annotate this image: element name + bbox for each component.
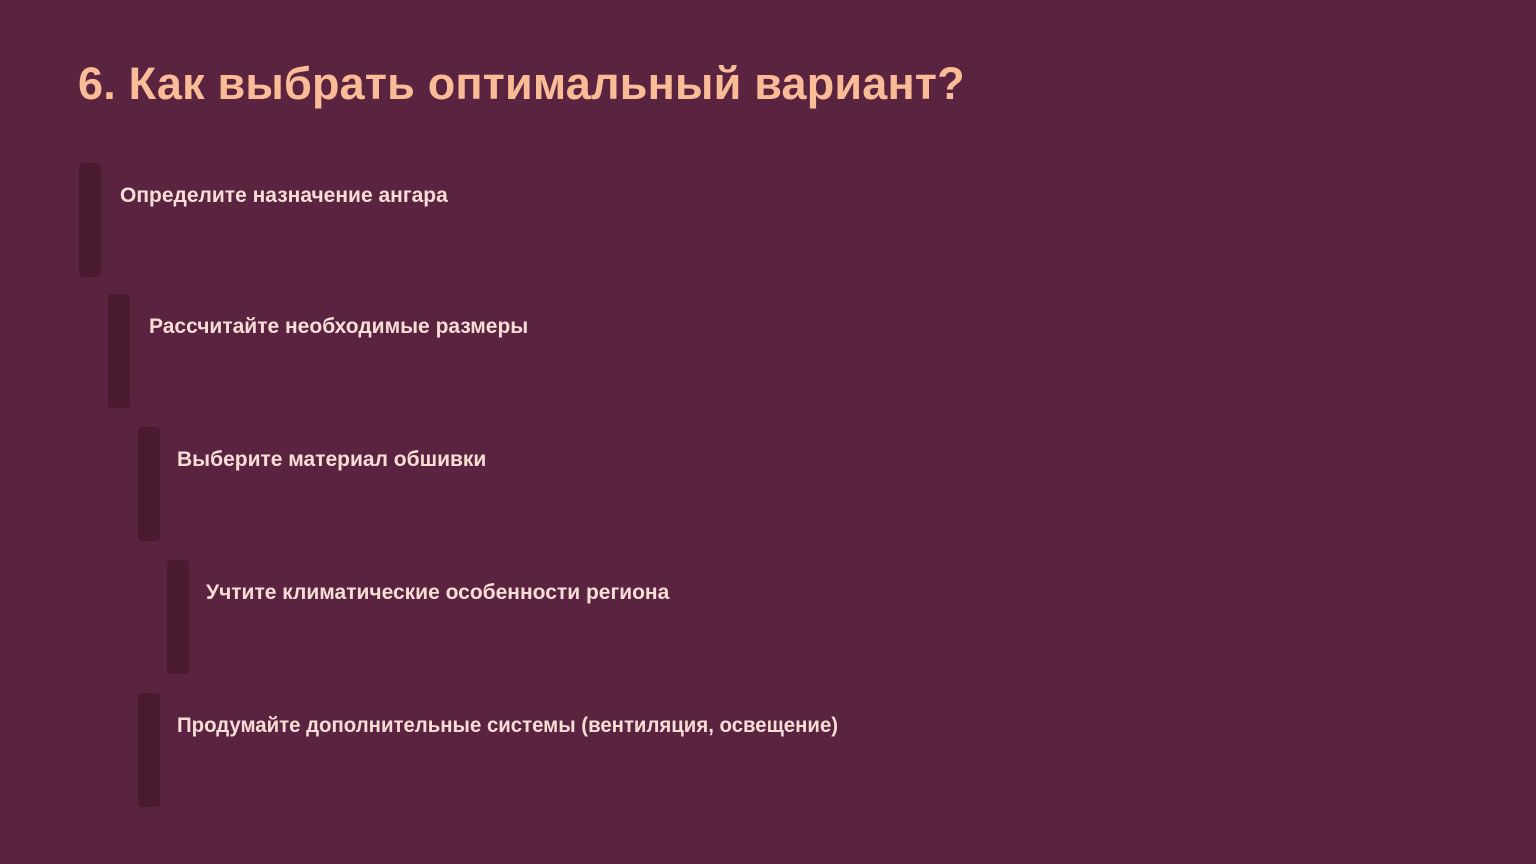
accent-bar-icon [79,163,101,277]
slide-canvas: 6. Как выбрать оптимальный вариант? Опре… [0,0,1536,864]
step-label: Рассчитайте необходимые размеры [149,314,528,340]
steps-list: Определите назначение ангара Рассчитайте… [0,0,1536,864]
accent-bar-icon [138,427,160,541]
accent-bar-icon [167,560,189,674]
step-label: Определите назначение ангара [120,183,448,209]
accent-bar-icon [108,294,130,408]
accent-bar-icon [138,693,160,807]
step-label: Выберите материал обшивки [177,447,486,473]
step-label: Продумайте дополнительные системы (венти… [177,713,838,739]
step-label: Учтите климатические особенности региона [206,580,669,606]
